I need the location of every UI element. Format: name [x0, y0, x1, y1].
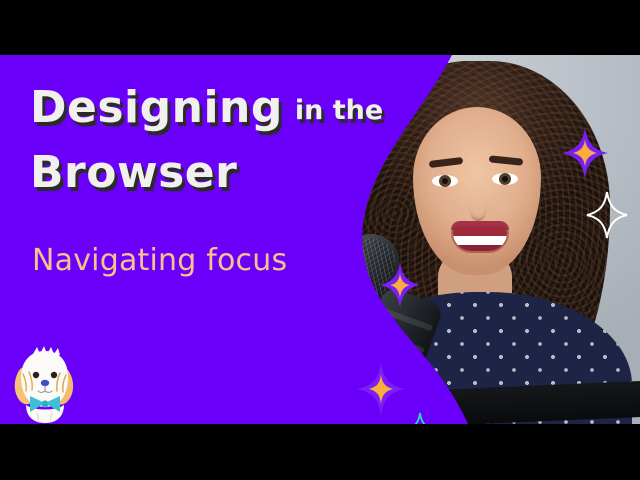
smiling-mouth: [453, 227, 507, 251]
eyebrow-right-icon: [489, 155, 524, 166]
title-line-two: Browser: [30, 148, 237, 198]
letterbox-bar-top: [0, 0, 640, 55]
episode-subtitle: Navigating focus: [32, 243, 287, 279]
letterbox-bar-bottom: [0, 424, 640, 480]
dog-mascot-logo: [6, 343, 84, 423]
eye-right-icon: [492, 173, 518, 185]
title-small-words: in the: [295, 95, 383, 126]
eye-left-icon: [432, 175, 458, 187]
title-main-word: Designing: [30, 82, 283, 133]
video-frame: Designingin the Browser Navigating focus: [0, 0, 640, 480]
title-card-stage: Designingin the Browser Navigating focus: [0, 55, 640, 424]
eyebrow-left-icon: [429, 157, 464, 168]
nose-icon: [469, 195, 487, 221]
title-line-one: Designingin the: [30, 83, 383, 136]
